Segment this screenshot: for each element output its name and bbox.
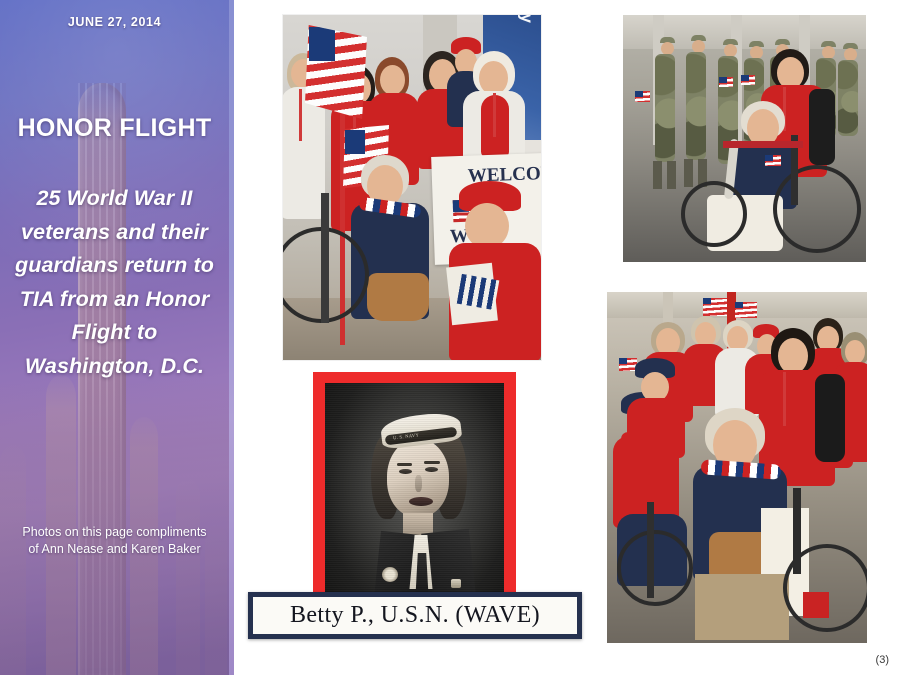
page-number: (3) [876,654,889,666]
lips [409,497,433,506]
vintage-portrait [325,383,504,607]
neck [403,513,433,539]
photo-caption-text: Betty P., U.S.N. (WAVE) [290,602,540,629]
american-flag-icon [635,91,650,102]
photo-group: WELCOME WWII [283,15,541,360]
handbag [367,273,429,321]
panel-text-block: JUNE 27, 2014 HONOR FLIGHT 25 World War … [0,0,229,675]
uniform-shirt [405,535,437,589]
page-title: HONOR FLIGHT [0,114,229,143]
american-flag-icon [765,155,781,166]
slide-body-text: 25 World War II veterans and their guard… [14,182,215,383]
trousers [695,574,789,640]
american-flag-icon [703,298,727,316]
eyebrow [397,463,412,466]
navy-wave-cap-icon [379,410,462,450]
photo-credit: Photos on this page compliments of Ann N… [18,524,211,558]
eyebrow [424,461,440,464]
american-flag-icon [735,302,757,318]
american-flag-icon [741,75,755,85]
nose [415,475,422,492]
hair [437,433,467,519]
cap-band-text [385,427,458,446]
caption-plate: Betty P., U.S.N. (WAVE) [253,597,577,634]
slide-date: JUNE 27, 2014 [0,15,229,29]
eye [399,469,412,474]
photo-crowd [607,292,867,643]
photo-caption-banner: Betty P., U.S.N. (WAVE) [248,592,582,639]
face [387,439,449,517]
red-flag-marker [803,592,829,618]
uniform-insignia-icon [451,579,461,588]
photo-salute [623,15,866,262]
american-flag-icon [719,77,733,87]
panel-edge-stripe [229,0,234,675]
uniform-insignia-icon [382,567,398,582]
eye [425,467,438,472]
hair [371,435,399,519]
